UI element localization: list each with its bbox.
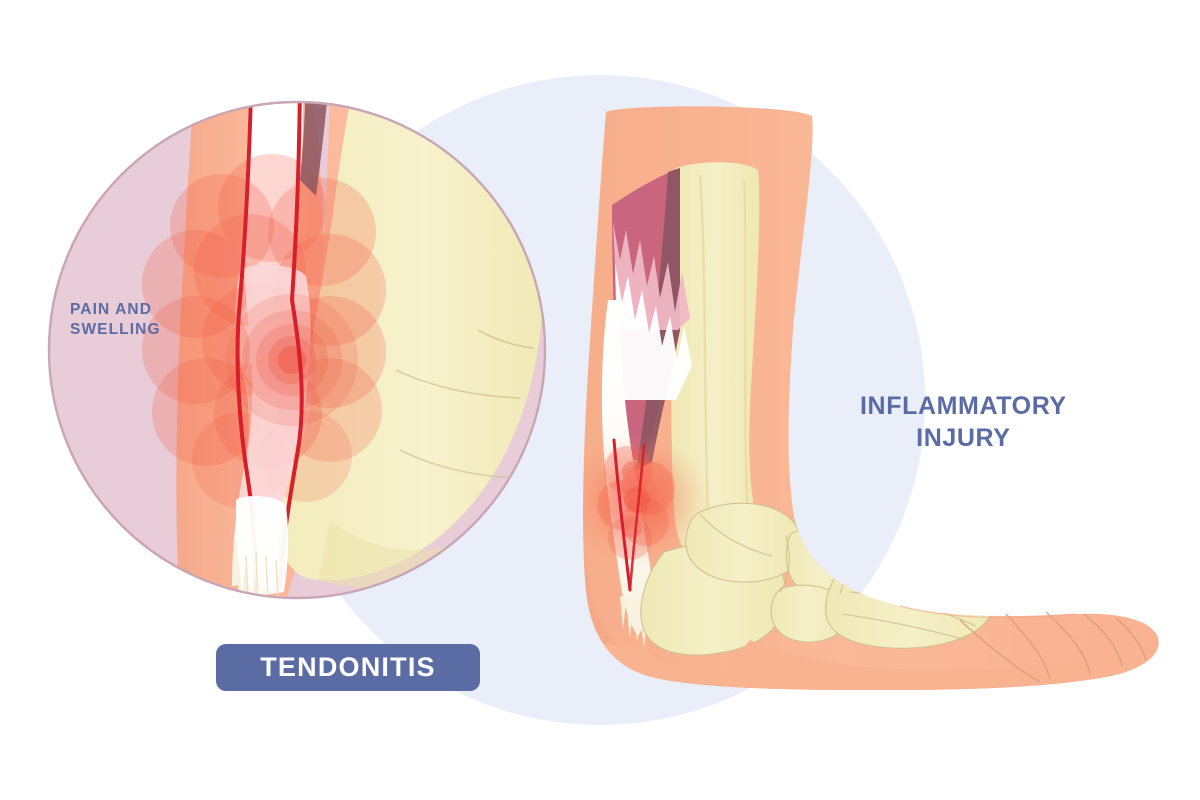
tendonitis-badge: TENDONITIS xyxy=(216,644,480,691)
illustration-canvas: PAIN AND SWELLING INFLAMMATORY INJURY TE… xyxy=(0,0,1200,800)
inset-inflammation-core-rings xyxy=(226,294,358,426)
tendonitis-badge-label: TENDONITIS xyxy=(260,652,436,683)
inflammatory-injury-label: INFLAMMATORY INJURY xyxy=(860,390,1067,454)
pain-and-swelling-label: PAIN AND SWELLING xyxy=(70,300,161,340)
